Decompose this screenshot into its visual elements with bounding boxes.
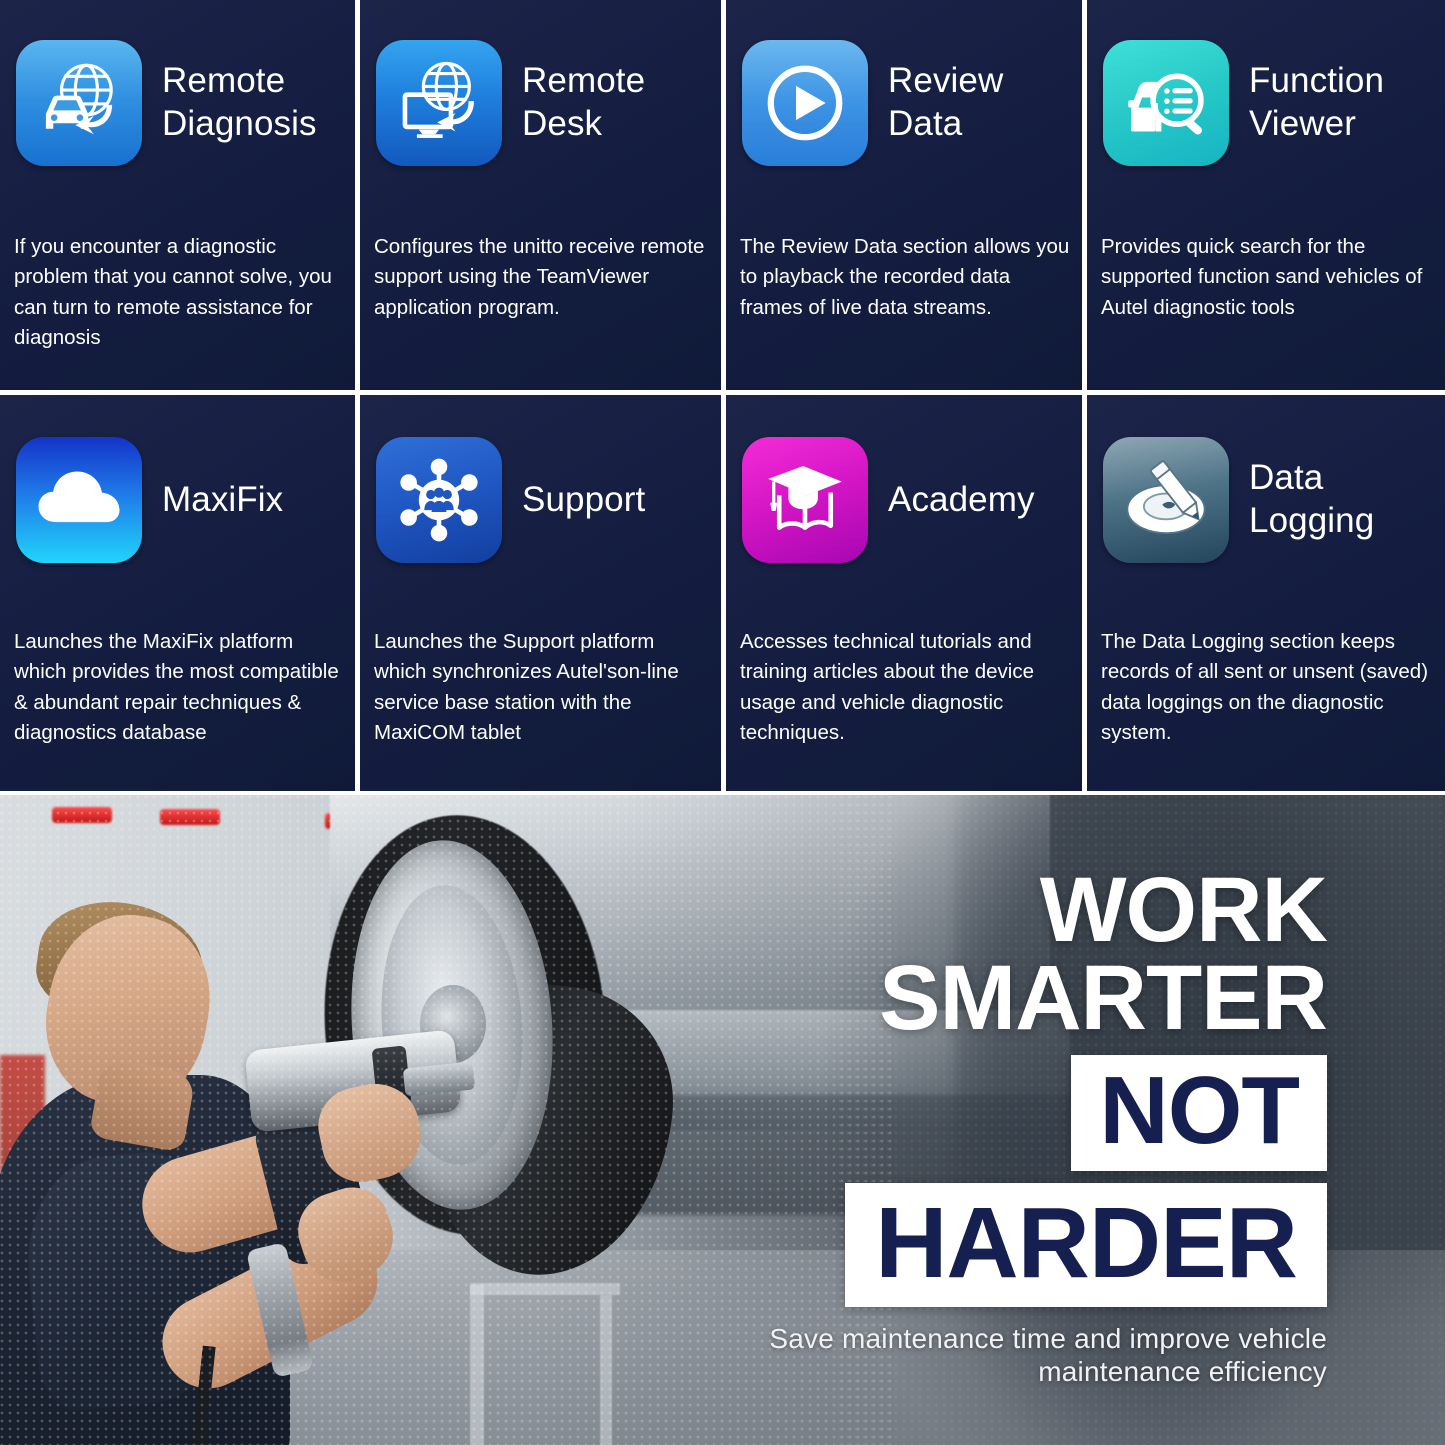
- graduation-book-icon: [742, 437, 868, 563]
- card-header: Remote Diagnosis: [16, 40, 347, 166]
- feature-card-review-data[interactable]: Review Data The Review Data section allo…: [726, 0, 1082, 390]
- feature-description: Launches the Support platform which sync…: [374, 627, 711, 748]
- slogan-line-2: SMARTER: [747, 956, 1327, 1042]
- feature-description: Provides quick search for the supported …: [1101, 232, 1437, 323]
- card-header: Function Viewer: [1103, 40, 1439, 166]
- feature-description: Launches the MaxiFix platform which prov…: [14, 627, 345, 748]
- network-people-icon: [376, 437, 502, 563]
- feature-card-function-viewer[interactable]: Function Viewer Provides quick search fo…: [1087, 0, 1445, 390]
- feature-description: The Data Logging section keeps records o…: [1101, 627, 1437, 748]
- marketing-infographic: Remote Diagnosis If you encounter a diag…: [0, 0, 1445, 1445]
- card-header: Academy: [742, 437, 1074, 563]
- feature-card-maxifix[interactable]: MaxiFix Launches the MaxiFix platform wh…: [0, 395, 355, 791]
- play-circle-icon: [742, 40, 868, 166]
- slogan-block: WORK SMARTER NOT HARDER Save maintenance…: [747, 868, 1327, 1388]
- cloud-icon: [16, 437, 142, 563]
- card-header: Review Data: [742, 40, 1074, 166]
- feature-description: Accesses technical tutorials and trainin…: [740, 627, 1072, 748]
- feature-grid: Remote Diagnosis If you encounter a diag…: [0, 0, 1445, 792]
- feature-title: Data Logging: [1249, 457, 1439, 542]
- card-header: Data Logging: [1103, 437, 1439, 563]
- slogan-box-not: NOT: [1071, 1055, 1327, 1171]
- feature-card-remote-diagnosis[interactable]: Remote Diagnosis If you encounter a diag…: [0, 0, 355, 390]
- car-search-icon: [1103, 40, 1229, 166]
- feature-description: The Review Data section allows you to pl…: [740, 232, 1072, 323]
- card-header: Remote Desk: [376, 40, 713, 166]
- feature-title: Review Data: [888, 60, 1074, 145]
- feature-title: MaxiFix: [162, 479, 283, 522]
- feature-title: Support: [522, 479, 645, 522]
- remote-desk-icon: [376, 40, 502, 166]
- feature-card-support[interactable]: Support Launches the Support platform wh…: [360, 395, 721, 791]
- feature-title: Academy: [888, 479, 1035, 522]
- card-header: Support: [376, 437, 713, 563]
- feature-card-remote-desk[interactable]: Remote Desk Configures the unitto receiv…: [360, 0, 721, 390]
- card-header: MaxiFix: [16, 437, 347, 563]
- feature-title: Remote Diagnosis: [162, 60, 347, 145]
- feature-title: Remote Desk: [522, 60, 713, 145]
- remote-diagnosis-icon: [16, 40, 142, 166]
- pencil-disc-icon: [1103, 437, 1229, 563]
- slogan-box-harder: HARDER: [845, 1183, 1327, 1307]
- feature-title: Function Viewer: [1249, 60, 1439, 145]
- feature-card-data-logging[interactable]: Data Logging The Data Logging section ke…: [1087, 395, 1445, 791]
- slogan-line-1: WORK: [747, 868, 1327, 954]
- feature-card-academy[interactable]: Academy Accesses technical tutorials and…: [726, 395, 1082, 791]
- feature-description: If you encounter a diagnostic problem th…: [14, 232, 345, 353]
- slogan-subtitle: Save maintenance time and improve vehicl…: [747, 1323, 1327, 1388]
- feature-description: Configures the unitto receive remote sup…: [374, 232, 711, 323]
